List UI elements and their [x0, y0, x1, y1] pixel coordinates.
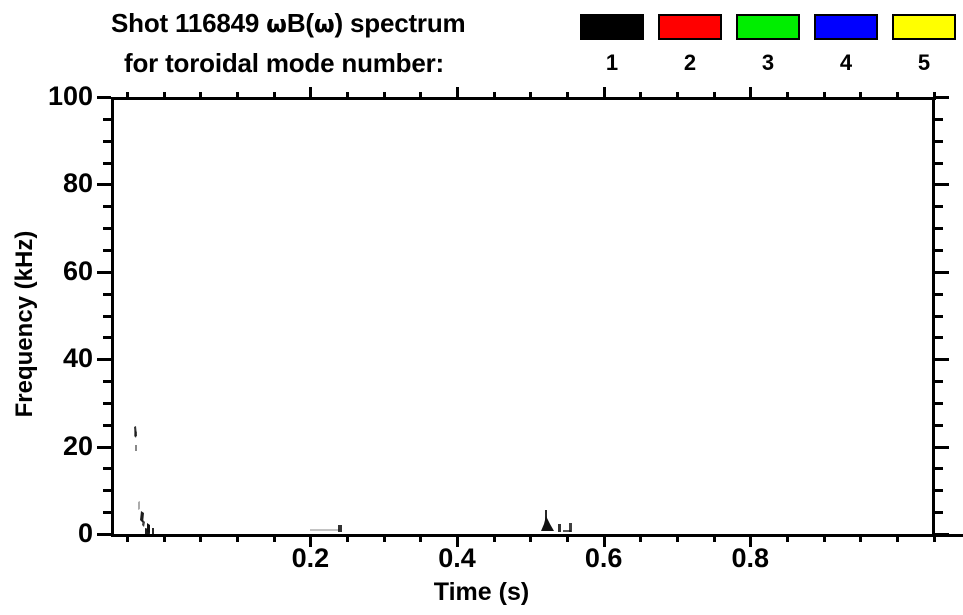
y-tick-right-minor-25 [935, 424, 943, 427]
y-tick-minor-5 [103, 511, 111, 514]
y-tick-minor-55 [103, 293, 111, 296]
chart-title-line-2: for toroidal mode number: [124, 48, 444, 79]
x-tick-top-minor-0.5 [529, 92, 532, 100]
x-tick-minor-0 [163, 534, 166, 542]
x-tick-minor-0.75 [713, 534, 716, 542]
x-tick-top-minor-0.75 [713, 92, 716, 100]
y-tick-minor-45 [103, 336, 111, 339]
x-tick-top-minor-0.3 [383, 92, 386, 100]
y-tick-major-80 [97, 183, 111, 186]
y-tick-minor-85 [103, 162, 111, 165]
x-tick-label-0.6: 0.6 [585, 545, 623, 572]
y-tick-right-minor-15 [935, 467, 943, 470]
x-tick-top-major-0.2 [309, 87, 312, 100]
x-tick-minor-0.7 [676, 534, 679, 542]
y-tick-right-major-100 [935, 96, 949, 99]
y-tick-major-60 [97, 271, 111, 274]
x-tick-minor-0.5 [529, 534, 532, 542]
legend-item-2[interactable]: 2 [658, 14, 722, 74]
y-tick-right-minor-85 [935, 162, 943, 165]
y-tick-label-20: 20 [63, 433, 93, 460]
x-tick-minor-0.85 [786, 534, 789, 542]
x-tick-label-0.4: 0.4 [438, 545, 476, 572]
legend-label-3: 3 [736, 52, 800, 74]
x-tick-top-minor-0.7 [676, 92, 679, 100]
y-tick-right-minor-45 [935, 336, 943, 339]
y-tick-minor-10 [103, 489, 111, 492]
legend-label-2: 2 [658, 52, 722, 74]
x-tick-top-minor-0.15 [273, 92, 276, 100]
x-tick-top-minor-0 [163, 92, 166, 100]
y-tick-right-minor-50 [935, 315, 943, 318]
y-tick-right-minor-55 [935, 293, 943, 296]
y-axis-title: Frequency (kHz) [11, 204, 39, 444]
x-tick-top-minor-0.85 [786, 92, 789, 100]
y-tick-minor-15 [103, 467, 111, 470]
x-tick-minor-0.95 [859, 534, 862, 542]
y-tick-right-major-0 [935, 533, 949, 536]
x-tick-top-major-0.4 [456, 87, 459, 100]
x-tick-top-minor--0.05 [126, 92, 129, 100]
y-tick-major-40 [97, 358, 111, 361]
x-tick-minor-1 [896, 534, 899, 542]
y-tick-right-minor-30 [935, 402, 943, 405]
plot-area [111, 97, 935, 534]
figure-root: Shot 116849 ωB(ω) spectrum for toroidal … [0, 0, 963, 615]
y-tick-major-20 [97, 446, 111, 449]
y-tick-label-60: 60 [63, 258, 93, 285]
y-tick-label-100: 100 [48, 83, 93, 110]
x-tick-top-minor-0.65 [639, 92, 642, 100]
legend-swatch-3 [736, 14, 800, 40]
legend-item-5[interactable]: 5 [892, 14, 956, 74]
x-tick-label-0.8: 0.8 [731, 545, 769, 572]
legend-item-1[interactable]: 1 [580, 14, 644, 74]
y-tick-right-minor-70 [935, 227, 943, 230]
y-tick-label-40: 40 [63, 345, 93, 372]
chart-title-line-1: Shot 116849 ωB(ω) spectrum [111, 8, 465, 39]
legend-swatch-4 [814, 14, 878, 40]
y-tick-right-minor-65 [935, 249, 943, 252]
y-tick-major-0 [97, 533, 111, 536]
y-tick-right-minor-35 [935, 380, 943, 383]
y-tick-right-minor-90 [935, 140, 943, 143]
x-tick-minor-0.1 [236, 534, 239, 542]
y-tick-minor-95 [103, 118, 111, 121]
legend-swatch-5 [892, 14, 956, 40]
x-tick-top-major-0.8 [749, 87, 752, 100]
x-tick-minor-0.55 [566, 534, 569, 542]
x-tick-minor--0.05 [126, 534, 129, 542]
y-tick-right-major-60 [935, 271, 949, 274]
y-tick-minor-35 [103, 380, 111, 383]
x-tick-minor-0.9 [823, 534, 826, 542]
x-axis-title: Time (s) [0, 578, 963, 607]
y-tick-right-minor-95 [935, 118, 943, 121]
legend-item-4[interactable]: 4 [814, 14, 878, 74]
legend-item-3[interactable]: 3 [736, 14, 800, 74]
y-tick-minor-75 [103, 205, 111, 208]
x-tick-top-minor-0.9 [823, 92, 826, 100]
x-tick-top-minor-1 [896, 92, 899, 100]
y-tick-minor-90 [103, 140, 111, 143]
chart-title-b: B( [287, 8, 314, 38]
legend-swatch-2 [658, 14, 722, 40]
y-tick-minor-25 [103, 424, 111, 427]
x-tick-top-minor-0.55 [566, 92, 569, 100]
contour-marks [114, 100, 932, 534]
legend-label-4: 4 [814, 52, 878, 74]
x-tick-minor-0.25 [346, 534, 349, 542]
omega-symbol-2: ω [314, 10, 335, 38]
x-tick-top-minor-1.05 [933, 92, 936, 100]
y-tick-minor-30 [103, 402, 111, 405]
y-tick-right-minor-10 [935, 489, 943, 492]
x-tick-top-minor-0.05 [199, 92, 202, 100]
legend-label-5: 5 [892, 52, 956, 74]
chart-title-suffix: ) spectrum [335, 8, 466, 38]
x-tick-top-minor-0.35 [419, 92, 422, 100]
y-tick-right-minor-5 [935, 511, 943, 514]
x-tick-minor-0.05 [199, 534, 202, 542]
x-tick-minor-0.15 [273, 534, 276, 542]
x-tick-minor-0.35 [419, 534, 422, 542]
x-tick-label-0.2: 0.2 [292, 545, 330, 572]
x-tick-minor-0.45 [493, 534, 496, 542]
y-tick-minor-50 [103, 315, 111, 318]
legend: 1 2 3 4 5 [580, 14, 955, 88]
y-tick-right-major-40 [935, 358, 949, 361]
x-tick-top-major-0.6 [603, 87, 606, 100]
omega-symbol-1: ω [266, 10, 287, 38]
spectrogram-data-layer [114, 100, 932, 534]
y-tick-right-major-20 [935, 446, 949, 449]
y-tick-right-major-80 [935, 183, 949, 186]
legend-label-1: 1 [580, 52, 644, 74]
legend-swatch-1 [580, 14, 644, 40]
x-tick-top-minor-0.95 [859, 92, 862, 100]
x-tick-minor-0.3 [383, 534, 386, 542]
y-tick-label-0: 0 [78, 520, 93, 547]
x-tick-top-minor-0.1 [236, 92, 239, 100]
y-tick-label-80: 80 [63, 170, 93, 197]
x-tick-top-minor-0.45 [493, 92, 496, 100]
y-tick-right-minor-75 [935, 205, 943, 208]
x-tick-minor-0.65 [639, 534, 642, 542]
y-tick-minor-65 [103, 249, 111, 252]
y-tick-major-100 [97, 96, 111, 99]
x-tick-top-minor-0.25 [346, 92, 349, 100]
chart-title-shot: Shot 116849 [111, 8, 266, 38]
x-axis-tick-labels: 0.20.40.60.8 [0, 545, 963, 579]
y-tick-minor-70 [103, 227, 111, 230]
x-tick-minor-1.05 [933, 534, 936, 542]
